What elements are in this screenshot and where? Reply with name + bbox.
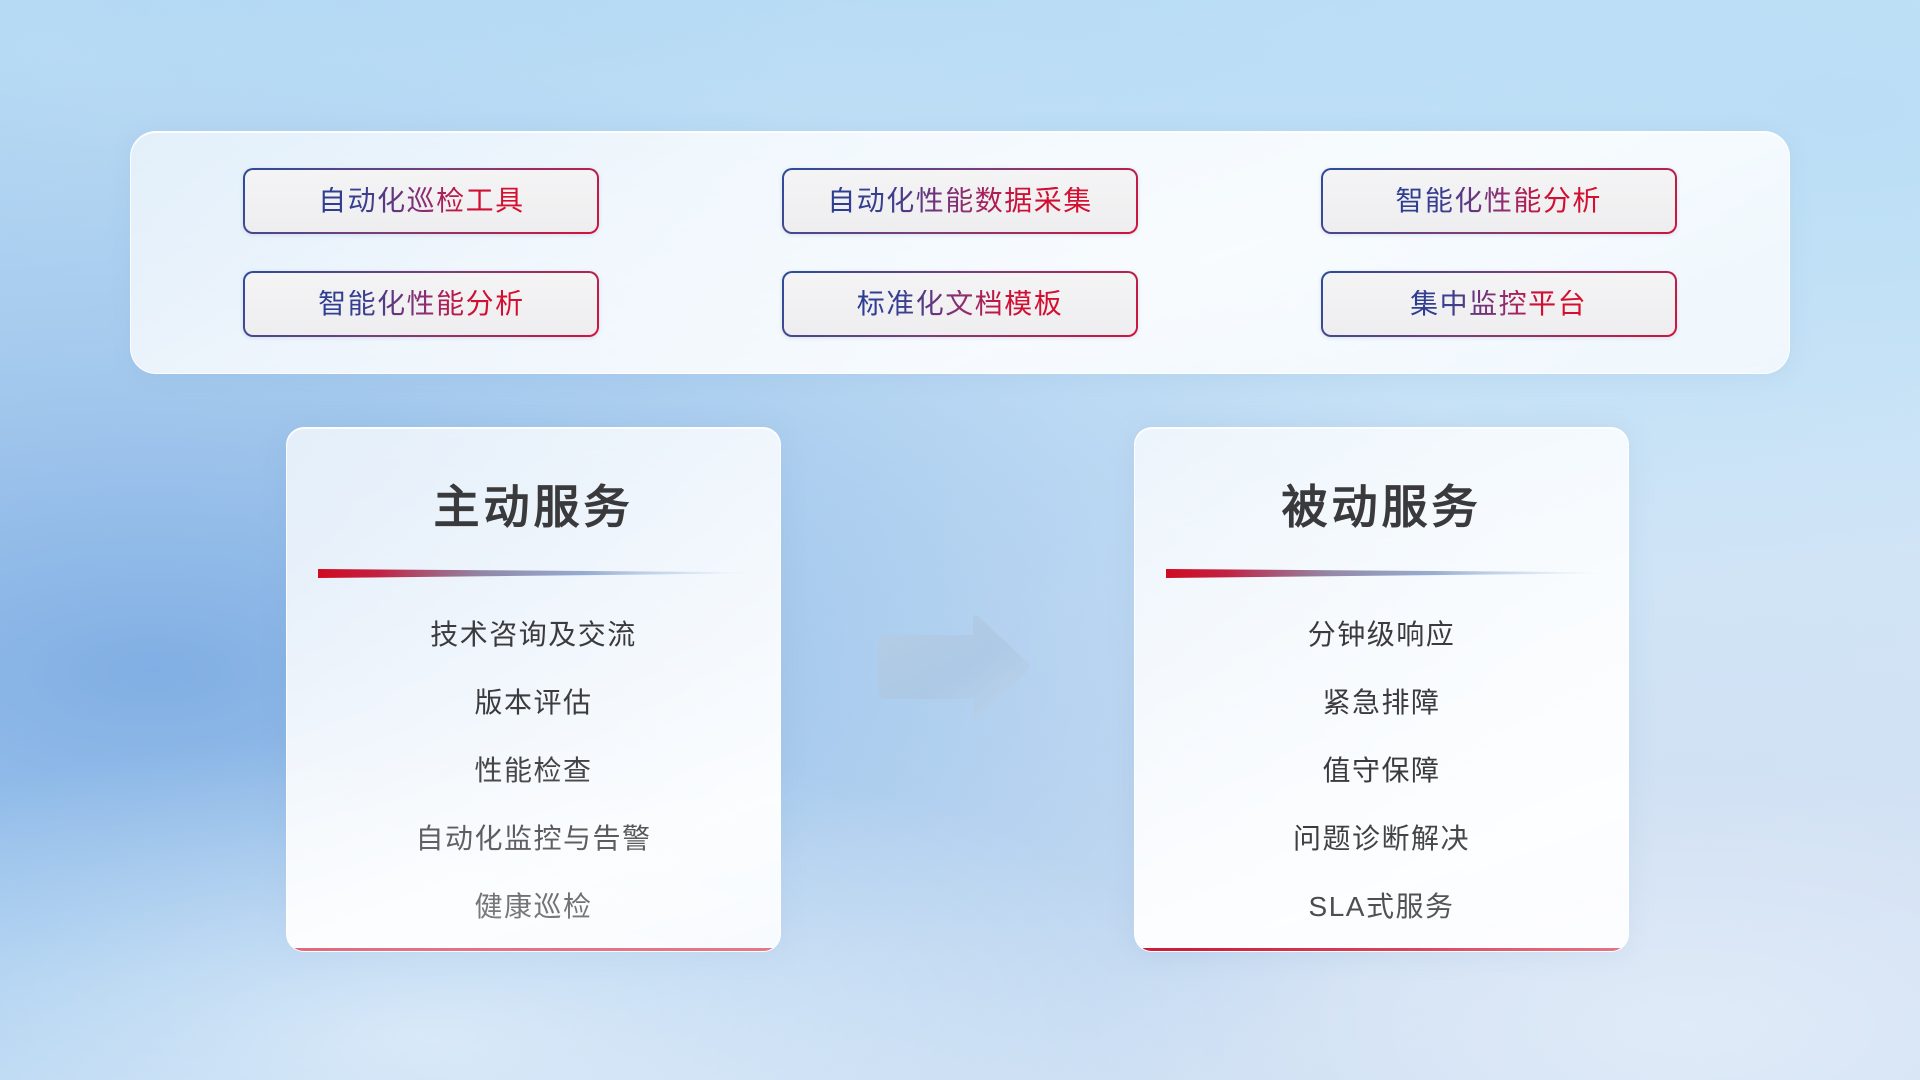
capability-chip-label: 智能化性能分析	[1395, 187, 1602, 215]
service-card-reactive: 被动服务 分钟级响应 紧急排障 值守保障	[1134, 427, 1629, 952]
capability-chip-label: 自动化性能数据采集	[827, 187, 1093, 215]
service-item: 版本评估	[307, 669, 760, 737]
service-item-list: 技术咨询及交流 版本评估 性能检查 自动化监控与告警 健康巡检	[287, 601, 780, 941]
capability-chips-panel: 自动化巡检工具 自动化性能数据采集 智能化性能分析 智能化性能分析 标准化文档模…	[130, 131, 1790, 374]
service-item: 分钟级响应	[1155, 601, 1608, 669]
capability-chip-label: 集中监控平台	[1410, 290, 1587, 318]
capability-chip[interactable]: 智能化性能分析	[1321, 168, 1677, 234]
capability-chip-inner: 标准化文档模板	[784, 273, 1136, 335]
service-item: 紧急排障	[1155, 669, 1608, 737]
service-item-list: 分钟级响应 紧急排障 值守保障 问题诊断解决 SLA式服务	[1135, 601, 1628, 941]
capability-chip-inner: 自动化巡检工具	[245, 170, 597, 232]
capability-chip[interactable]: 集中监控平台	[1321, 271, 1677, 337]
capability-chip-inner: 集中监控平台	[1323, 273, 1675, 335]
capability-chip-label: 标准化文档模板	[857, 290, 1064, 318]
card-title: 主动服务	[287, 471, 780, 537]
card-divider	[318, 565, 750, 581]
service-item: 性能检查	[307, 737, 760, 805]
capability-chip[interactable]: 智能化性能分析	[243, 271, 599, 337]
service-item: 自动化监控与告警	[307, 805, 760, 873]
capability-chip-inner: 智能化性能分析	[1323, 170, 1675, 232]
capability-chip-inner: 智能化性能分析	[245, 273, 597, 335]
card-title: 被动服务	[1135, 471, 1628, 537]
capability-chip-label: 智能化性能分析	[318, 290, 525, 318]
service-item: 值守保障	[1155, 737, 1608, 805]
service-item: 技术咨询及交流	[307, 601, 760, 669]
capability-chip[interactable]: 自动化巡检工具	[243, 168, 599, 234]
capability-chip-inner: 自动化性能数据采集	[784, 170, 1136, 232]
arrow-right-icon	[872, 612, 1032, 722]
service-item: 问题诊断解决	[1155, 805, 1608, 873]
service-item: 健康巡检	[307, 873, 760, 941]
service-item: SLA式服务	[1155, 873, 1608, 941]
capability-chip[interactable]: 标准化文档模板	[782, 271, 1138, 337]
diagram-canvas: 自动化巡检工具 自动化性能数据采集 智能化性能分析 智能化性能分析 标准化文档模…	[0, 0, 1920, 1080]
capability-chip-label: 自动化巡检工具	[318, 187, 525, 215]
capability-chip[interactable]: 自动化性能数据采集	[782, 168, 1138, 234]
service-card-proactive: 主动服务 技术咨询及交流 版本评估 性能检查	[286, 427, 781, 952]
card-divider	[1166, 565, 1598, 581]
